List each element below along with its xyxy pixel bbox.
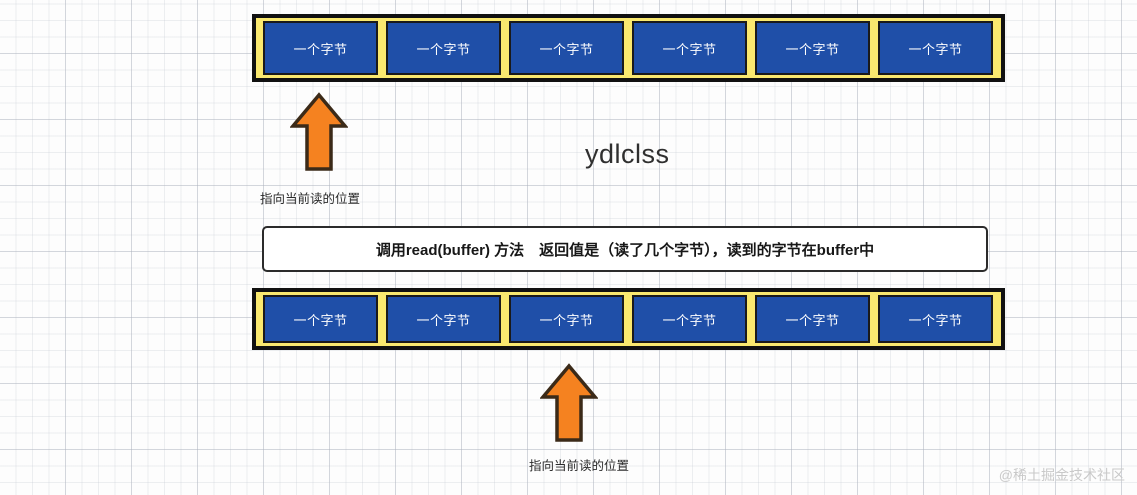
byte-cell: 一个字节 <box>509 21 624 75</box>
annotation-label: ydlclss <box>585 139 670 170</box>
byte-cell: 一个字节 <box>386 295 501 343</box>
read-method-description-text: 调用read(buffer) 方法 返回值是（读了几个字节），读到的字节在buf… <box>376 239 874 260</box>
byte-cell: 一个字节 <box>632 21 747 75</box>
byte-cell: 一个字节 <box>755 21 870 75</box>
source-byte-stream-strip: 一个字节 一个字节 一个字节 一个字节 一个字节 一个字节 <box>252 14 1005 82</box>
diagram-canvas: 一个字节 一个字节 一个字节 一个字节 一个字节 一个字节 指向当前读的位置 y… <box>0 0 1137 495</box>
byte-cell: 一个字节 <box>632 295 747 343</box>
byte-cell: 一个字节 <box>263 21 378 75</box>
top-pointer-caption: 指向当前读的位置 <box>260 188 360 207</box>
byte-cell: 一个字节 <box>386 21 501 75</box>
byte-cell: 一个字节 <box>878 295 993 343</box>
buffer-byte-stream-strip: 一个字节 一个字节 一个字节 一个字节 一个字节 一个字节 <box>252 288 1005 350</box>
bottom-pointer-caption: 指向当前读的位置 <box>529 455 629 474</box>
watermark: @稀土掘金技术社区 <box>999 465 1125 485</box>
up-arrow-icon <box>290 92 348 177</box>
byte-cell: 一个字节 <box>878 21 993 75</box>
byte-cell: 一个字节 <box>755 295 870 343</box>
byte-cell: 一个字节 <box>509 295 624 343</box>
byte-cell: 一个字节 <box>263 295 378 343</box>
read-method-description-box: 调用read(buffer) 方法 返回值是（读了几个字节），读到的字节在buf… <box>262 226 988 272</box>
up-arrow-icon <box>540 363 598 448</box>
